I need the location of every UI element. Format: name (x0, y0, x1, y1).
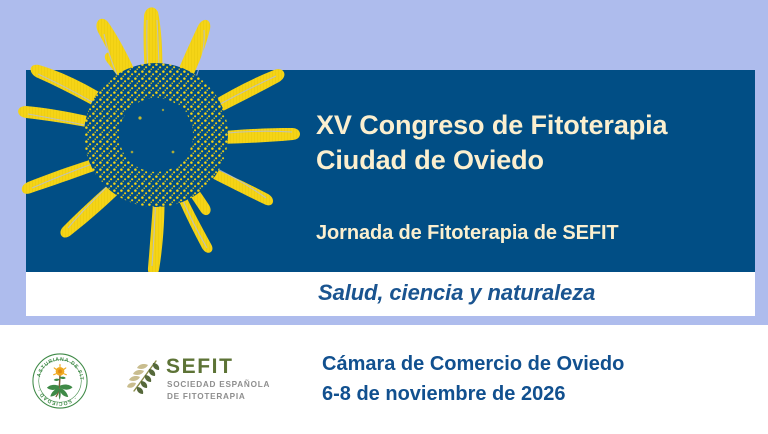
sefit-tagline: SOCIEDAD ESPAÑOLA DE FITOTERAPIA (167, 379, 270, 402)
sefit-tagline-line-2: DE FITOTERAPIA (167, 391, 270, 403)
sefit-tagline-line-1: SOCIEDAD ESPAÑOLA (167, 379, 270, 391)
tagline: Salud, ciencia y naturaleza (318, 280, 748, 306)
sociedad-asturiana-seal-icon: ASTURIANA DE FITOTERAPIA · SOCIEDAD · (31, 352, 89, 410)
page-title: XV Congreso de Fitoterapia Ciudad de Ovi… (316, 108, 746, 178)
headline-line-2: Ciudad de Oviedo (316, 143, 746, 178)
sefit-logo: SEFIT SOCIEDAD ESPAÑOLA DE FITOTERAPIA (126, 355, 276, 403)
event-dates: 6-8 de noviembre de 2026 (322, 380, 752, 410)
venue-and-dates: Cámara de Comercio de Oviedo 6-8 de novi… (322, 350, 752, 409)
sub-headline: Jornada de Fitoterapia de SEFIT (316, 222, 746, 245)
sefit-wordmark: SEFIT (166, 355, 234, 379)
headline-line-1: XV Congreso de Fitoterapia (316, 110, 667, 140)
wheat-branch-icon (126, 357, 162, 397)
congress-poster: XV Congreso de Fitoterapia Ciudad de Ovi… (0, 0, 768, 434)
venue-name: Cámara de Comercio de Oviedo (322, 353, 624, 375)
